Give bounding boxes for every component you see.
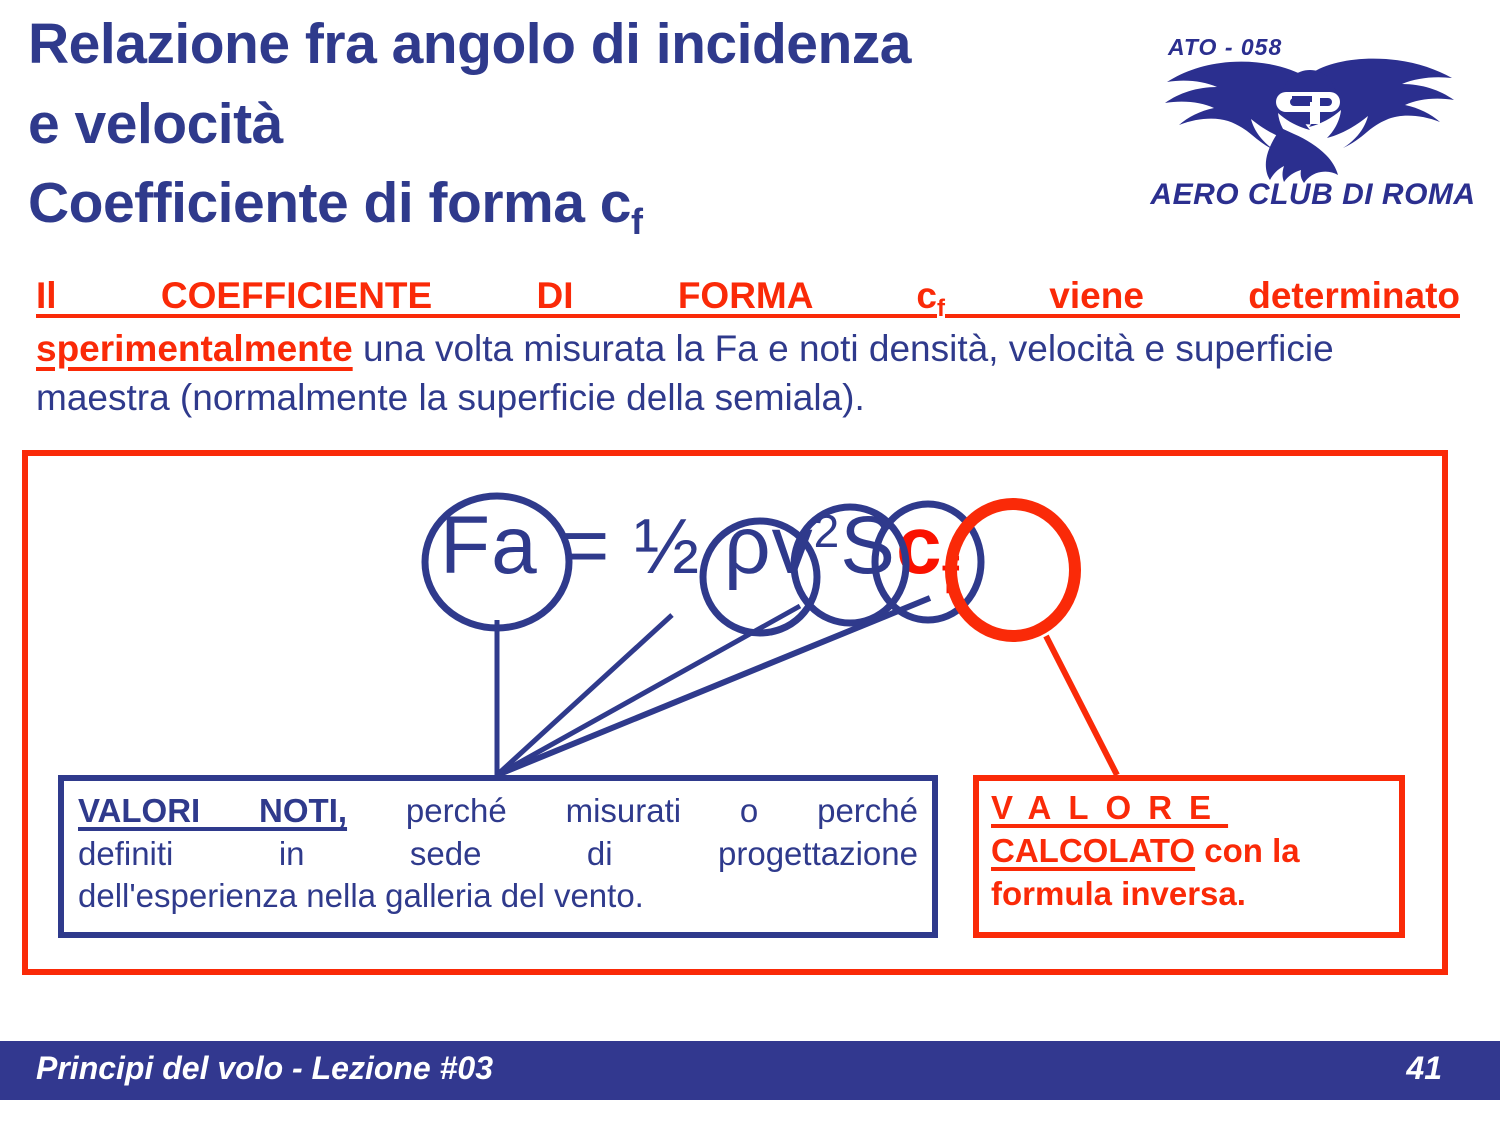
title-line-1: Relazione fra angolo di incidenza [28,14,1088,76]
note-known-values: VALORI NOTI, perché misurati o perché de… [58,775,938,938]
page-title: Relazione fra angolo di incidenza e velo… [28,14,1088,242]
slide-root: Relazione fra angolo di incidenza e velo… [0,0,1500,1125]
note-calc-line2-rest: con la [1195,832,1300,869]
formula-v: v [772,500,814,591]
note-calc-line3: formula inversa. [991,873,1387,916]
formula-cf-subscript: f [942,547,959,605]
note-calculated-value: VALORE CALCOLATO con la formula inversa. [973,775,1405,938]
note-calc-line2-underlined: CALCOLATO [991,832,1195,869]
note-known-line1: VALORI NOTI, perché misurati o perché [78,790,918,833]
formula-surface: S [840,500,896,591]
note-calc-text: VALORE CALCOLATO con la formula inversa. [979,781,1399,916]
footer-page-number: 41 [1406,1050,1442,1087]
logo-club-name: AERO CLUB DI ROMA [1148,178,1478,212]
eagle-icon [1160,56,1460,184]
note-known-line2: definiti in sede di progettazione [78,833,918,876]
intro-line1-text: Il COEFFICIENTE DI FORMA c [36,275,937,316]
formula-v-exponent: 2 [814,505,841,557]
aero-club-logo: ATO - 058 AERO CLUB DI ROMA [1138,18,1484,228]
footer-lesson-label: Principi del volo - Lezione #03 [36,1050,493,1087]
aerodynamic-force-formula: Fa = ½ ρv2Scf [440,505,959,602]
title-line-2-text: e velocità [28,92,283,156]
intro-line1-subscript: f [937,295,945,322]
intro-body: sperimentalmente una volta misurata la F… [36,325,1460,423]
title-line-2: e velocità [28,94,1088,156]
note-calc-line1: VALORE [991,787,1387,830]
note-known-text: VALORI NOTI, perché misurati o perché de… [64,781,932,918]
intro-line1-tail: viene determinato [945,275,1460,316]
title-subscript-f: f [631,201,643,242]
formula-rho: ρ [724,500,772,591]
intro-highlight-line1: Il COEFFICIENTE DI FORMA cf viene determ… [36,272,1460,325]
intro-paragraph: Il COEFFICIENTE DI FORMA cf viene determ… [36,272,1460,422]
note-known-line1-rest: perché misurati o perché [347,792,918,829]
note-calc-line2: CALCOLATO con la [991,830,1387,873]
intro-highlight-word: sperimentalmente [36,328,353,369]
formula-equals: = [538,500,634,591]
formula-lhs: Fa [440,500,538,591]
formula-half: ½ [634,502,700,590]
note-known-lead: VALORI NOTI, [78,792,347,829]
title-line-3-text: Coefficiente di forma c [28,171,631,235]
note-known-line3: dell'esperienza nella galleria del vento… [78,875,918,918]
formula-cf-base: c [896,500,942,591]
title-line-3: Coefficiente di forma cf [28,173,1088,242]
